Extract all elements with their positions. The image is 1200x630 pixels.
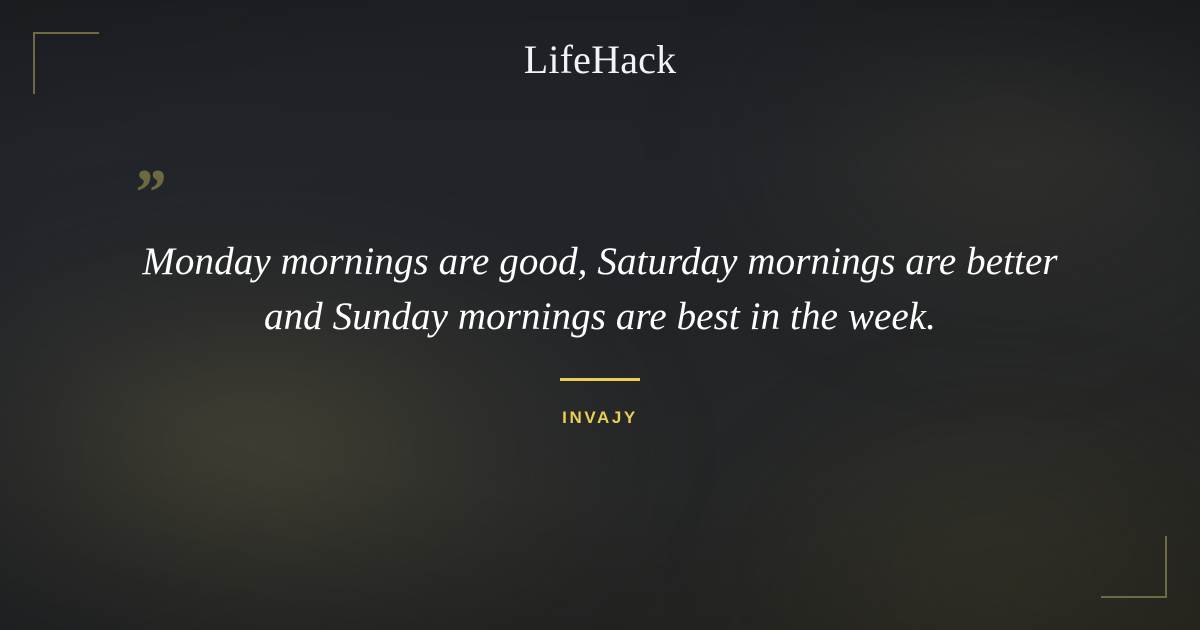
quote-card: LifeHack ” Monday mornings are good, Sat… — [0, 0, 1200, 630]
attribution-divider — [560, 378, 640, 381]
quote-block: ” Monday mornings are good, Saturday mor… — [0, 170, 1200, 345]
attribution: INVAJY — [0, 378, 1200, 428]
quote-line-2: and Sunday mornings are best in the week… — [100, 289, 1100, 344]
attribution-source-name: INVAJY — [0, 408, 1200, 428]
quotation-mark-icon: ” — [132, 170, 1200, 216]
corner-bracket-bottom-right-icon — [1101, 536, 1167, 598]
brand-logo: LifeHack — [0, 40, 1200, 80]
quote-line-1: Monday mornings are good, Saturday morni… — [100, 234, 1100, 289]
quote-text: Monday mornings are good, Saturday morni… — [100, 234, 1100, 345]
